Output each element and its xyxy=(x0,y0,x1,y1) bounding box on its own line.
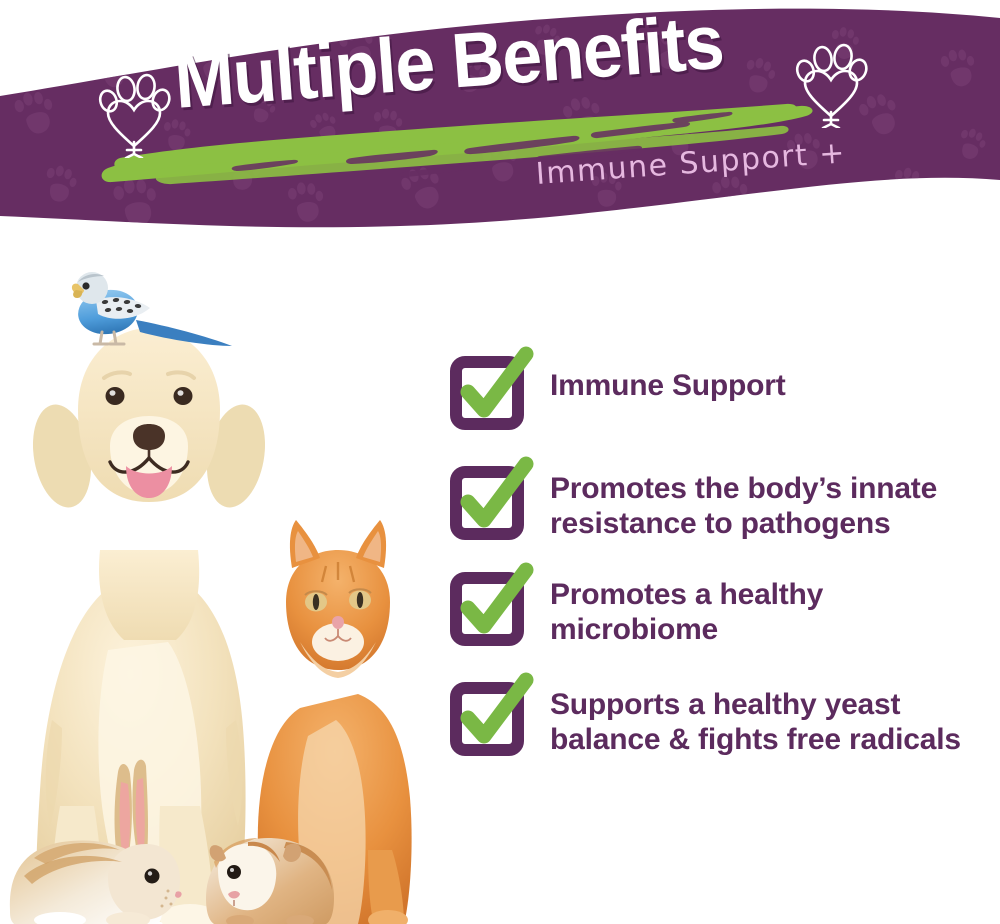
benefit-item: Immune Support xyxy=(452,352,972,428)
budgerigar-bird xyxy=(72,272,232,346)
golden-retriever-dog xyxy=(25,328,272,924)
checkbox-checked-icon xyxy=(452,352,528,428)
benefit-label: Promotes the body’s innate resistance to… xyxy=(550,462,972,542)
checkbox-checked-icon xyxy=(452,678,528,754)
checkbox-checked-icon xyxy=(452,462,528,538)
benefits-list: Immune Support Promotes the body’s innat… xyxy=(452,352,972,757)
benefit-item: Supports a healthy yeast balance & fight… xyxy=(452,678,972,758)
pets-illustration xyxy=(0,250,452,924)
product-benefits-infographic: Multiple Benefits Immune Support + xyxy=(0,0,1000,924)
checkbox-checked-icon xyxy=(452,568,528,644)
benefit-label: Supports a healthy yeast balance & fight… xyxy=(550,678,972,758)
benefit-label: Promotes a healthy microbiome xyxy=(550,568,972,648)
header-banner: Multiple Benefits Immune Support + xyxy=(0,0,1000,250)
benefit-label: Immune Support xyxy=(550,352,786,403)
pets-photo xyxy=(0,250,452,924)
paw-heart-icon xyxy=(793,42,869,128)
benefit-item: Promotes the body’s innate resistance to… xyxy=(452,462,972,542)
benefit-item: Promotes a healthy microbiome xyxy=(452,568,972,648)
paw-heart-icon xyxy=(96,72,172,158)
